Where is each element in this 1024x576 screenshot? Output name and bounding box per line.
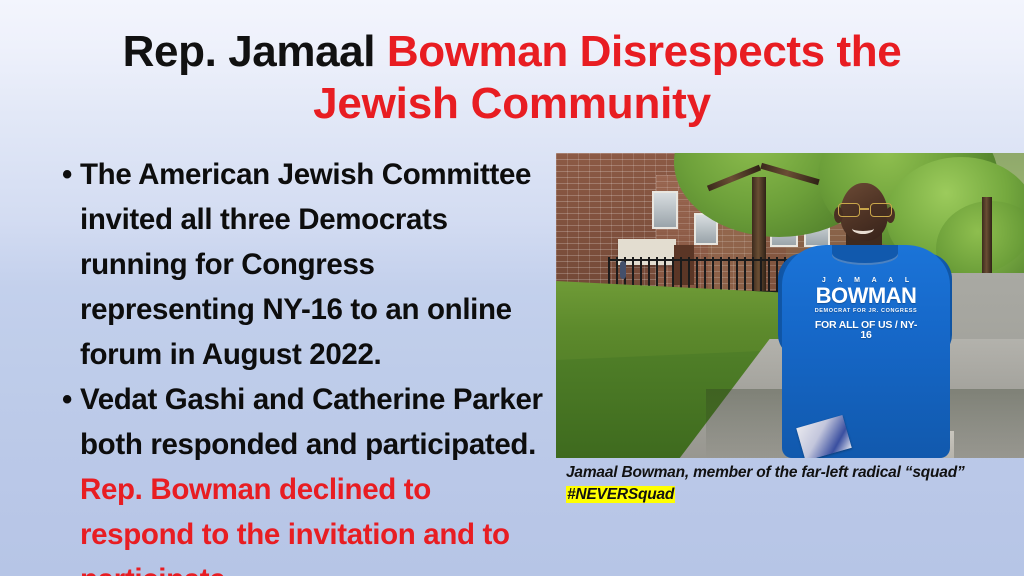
slide-title: Rep. Jamaal Bowman Disrespects the Jewis… [60, 26, 964, 130]
slide-canvas: Rep. Jamaal Bowman Disrespects the Jewis… [0, 0, 1024, 576]
bullet-text-black: The American Jewish Committee invited al… [80, 158, 531, 371]
fence-rail [608, 259, 788, 261]
photo-scene: J A M A A L BOWMAN DEMOCRAT FOR JR. CONG… [556, 153, 1024, 458]
building-window [652, 191, 678, 229]
caption-line-2: #NEVERSquad [566, 484, 1018, 506]
list-item: • The American Jewish Committee invited … [58, 152, 548, 377]
eyeglasses-icon [838, 203, 890, 215]
shirt-collar [832, 245, 898, 265]
list-item: • Vedat Gashi and Catherine Parker both … [58, 377, 548, 576]
photo-caption: Jamaal Bowman, member of the far-left ra… [566, 462, 1018, 506]
shirt-subtitle: DEMOCRAT FOR JR. CONGRESS [814, 309, 918, 315]
title-text-red: Bowman Disrespects the [387, 27, 901, 76]
title-line-1: Rep. Jamaal Bowman Disrespects the [60, 26, 964, 78]
bullet-marker: • [62, 152, 72, 197]
title-text-black: Rep. Jamaal [123, 27, 387, 76]
shirt-graphic: J A M A A L BOWMAN DEMOCRAT FOR JR. CONG… [814, 277, 918, 341]
shirt-slogan: FOR ALL OF US / NY-16 [814, 320, 918, 341]
bullet-text-black: Vedat Gashi and Catherine Parker both re… [80, 383, 543, 461]
distant-pedestrian [620, 261, 626, 279]
glasses-bridge [859, 208, 869, 210]
glasses-lens-left [838, 203, 860, 217]
tree-trunk [982, 197, 992, 283]
smile [852, 223, 874, 234]
person-bowman: J A M A A L BOWMAN DEMOCRAT FOR JR. CONG… [774, 179, 954, 458]
bullet-text-red: Rep. Bowman declined to respond to the i… [80, 473, 510, 576]
bullet-list: • The American Jewish Committee invited … [58, 152, 548, 576]
caption-hashtag-highlight: #NEVERSquad [566, 486, 675, 503]
shirt-last-name: BOWMAN [814, 285, 918, 307]
caption-line-1: Jamaal Bowman, member of the far-left ra… [566, 462, 1018, 484]
bowman-photo: J A M A A L BOWMAN DEMOCRAT FOR JR. CONG… [556, 153, 1024, 458]
title-line-2: Jewish Community [60, 78, 964, 130]
glasses-lens-right [870, 203, 892, 217]
bullet-marker: • [62, 377, 72, 422]
